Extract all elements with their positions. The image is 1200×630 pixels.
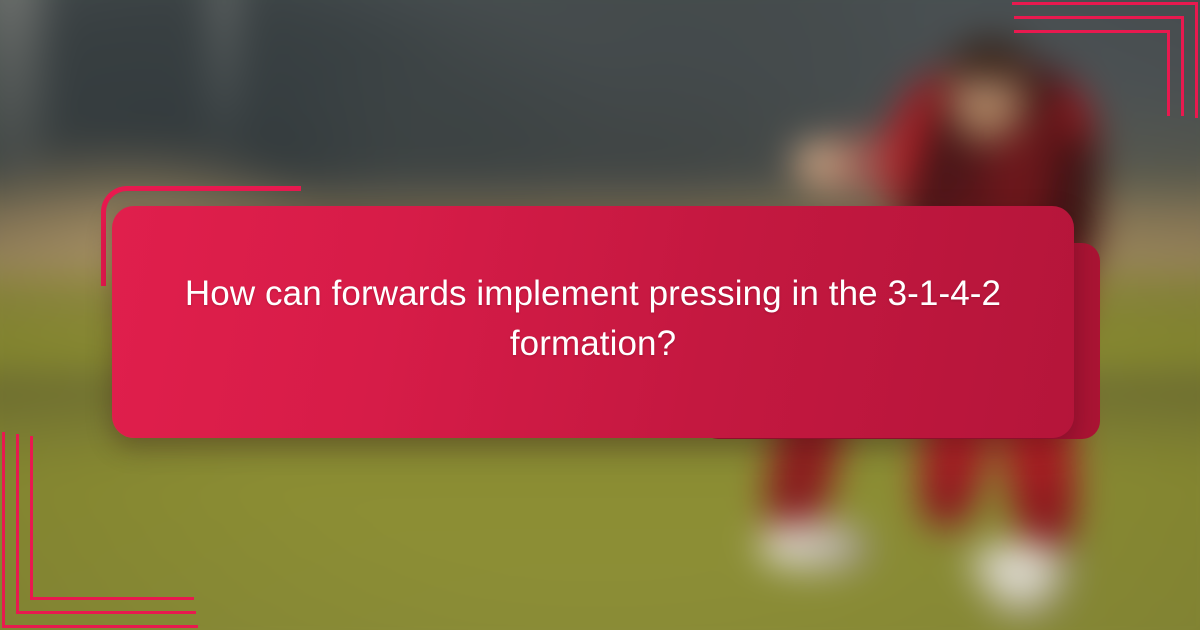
share-card-canvas: How can forwards implement pressing in t… xyxy=(0,0,1200,630)
question-card: How can forwards implement pressing in t… xyxy=(112,206,1074,438)
question-card-group: How can forwards implement pressing in t… xyxy=(0,0,1200,630)
question-text: How can forwards implement pressing in t… xyxy=(182,269,1004,368)
